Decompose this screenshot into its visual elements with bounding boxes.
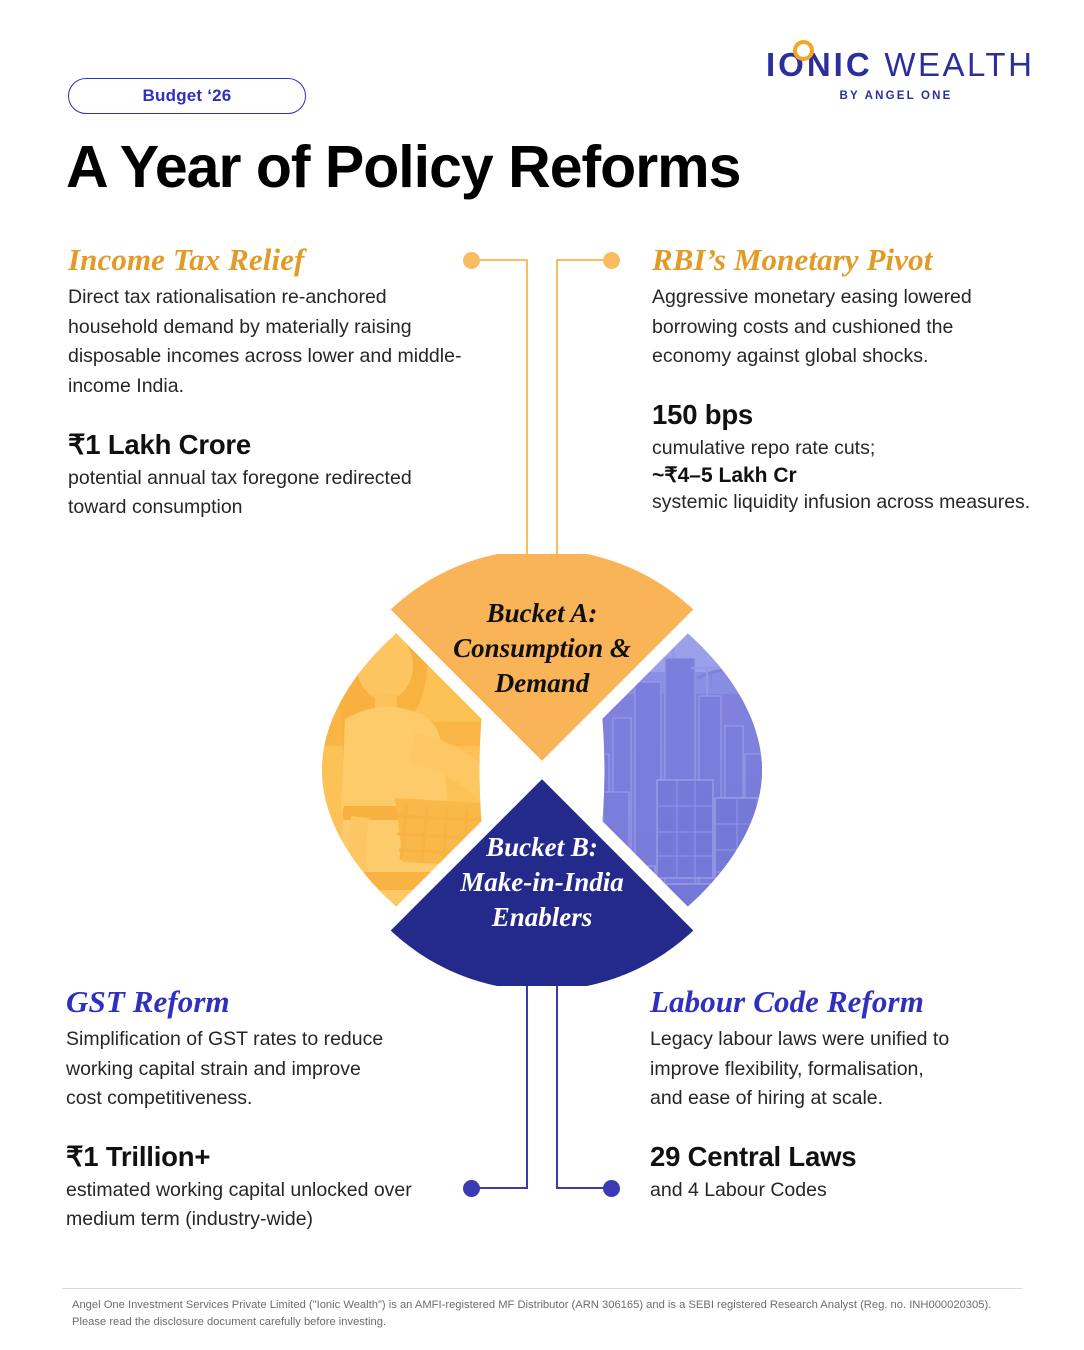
brand-logo: IONIC WEALTH BY ANGEL ONE (766, 48, 1026, 102)
section-description: Legacy labour laws were unified to impro… (650, 1025, 950, 1114)
section-heading-rbi-monetary-pivot: RBI’s Monetary Pivot (652, 243, 1032, 277)
connector-segment-h (556, 1187, 606, 1189)
section-stat-caption: and 4 Labour Codes (650, 1176, 1030, 1205)
budget-badge: Budget ‘26 (68, 78, 306, 114)
section-stat-value: ₹1 Lakh Crore (68, 428, 468, 461)
connector-segment-v (526, 978, 528, 1188)
section-labour-code-reform: Labour Code Reform Legacy labour laws we… (650, 985, 1030, 1205)
connector-segment-v (556, 259, 558, 559)
connector-segment-v (556, 978, 558, 1188)
section-description: Aggressive monetary easing lowered borro… (652, 283, 1032, 372)
section-description: Direct tax rationalisation re-anchored h… (68, 283, 468, 402)
section-rbi-monetary-pivot: RBI’s Monetary Pivot Aggressive monetary… (652, 243, 1032, 517)
section-income-tax-relief: Income Tax Relief Direct tax rationalisa… (68, 243, 468, 522)
logo-wordmark: IONIC WEALTH (766, 48, 1034, 81)
section-stat-value: 150 bps (652, 398, 1032, 431)
bucket-b-line1: Bucket B: (485, 832, 598, 862)
bucket-a-line2: Consumption & (453, 633, 631, 663)
logo-brand-light: WEALTH (873, 46, 1035, 83)
connector-segment-h (478, 259, 528, 261)
bucket-a-line3: Demand (494, 668, 590, 698)
bucket-a-line1: Bucket A: (486, 598, 598, 628)
page-title: A Year of Policy Reforms (66, 137, 740, 199)
section-stat-value: ₹1 Trillion+ (66, 1140, 466, 1173)
section-heading-labour-code-reform: Labour Code Reform (650, 985, 1030, 1019)
connector-segment-h (556, 259, 606, 261)
connector-segment-v (526, 259, 528, 559)
section-gst-reform: GST Reform Simplification of GST rates t… (66, 985, 466, 1234)
connector-dot-bottom-right (603, 1180, 620, 1197)
section-heading-gst-reform: GST Reform (66, 985, 466, 1019)
section-stat-caption: estimated working capital unlocked over … (66, 1176, 466, 1235)
footer-divider (62, 1288, 1022, 1289)
bucket-wheel-diagram: Bucket A: Consumption & Demand Bucket B:… (267, 554, 817, 986)
bucket-b-line3: Enablers (491, 902, 593, 932)
logo-tagline: BY ANGEL ONE (766, 90, 1026, 102)
section-description: Simplification of GST rates to reduce wo… (66, 1025, 396, 1114)
bucket-b-line2: Make-in-India (459, 867, 624, 897)
section-heading-income-tax-relief: Income Tax Relief (68, 243, 468, 277)
logo-orange-ring-icon (793, 40, 814, 61)
section-stat-caption: potential annual tax foregone redirected… (68, 464, 468, 523)
connector-segment-h (478, 1187, 528, 1189)
section-stat-secondary-value: ~₹4–5 Lakh Cr (652, 463, 1032, 488)
section-stat-caption-line2: systemic liquidity infusion across measu… (652, 488, 1032, 517)
section-stat-value: 29 Central Laws (650, 1140, 1030, 1173)
logo-brand-bold: IONIC (766, 46, 873, 83)
footer-disclaimer: Angel One Investment Services Private Li… (72, 1297, 1017, 1332)
budget-badge-label: Budget ‘26 (143, 86, 232, 106)
section-stat-caption-line1: cumulative repo rate cuts; (652, 434, 1032, 463)
